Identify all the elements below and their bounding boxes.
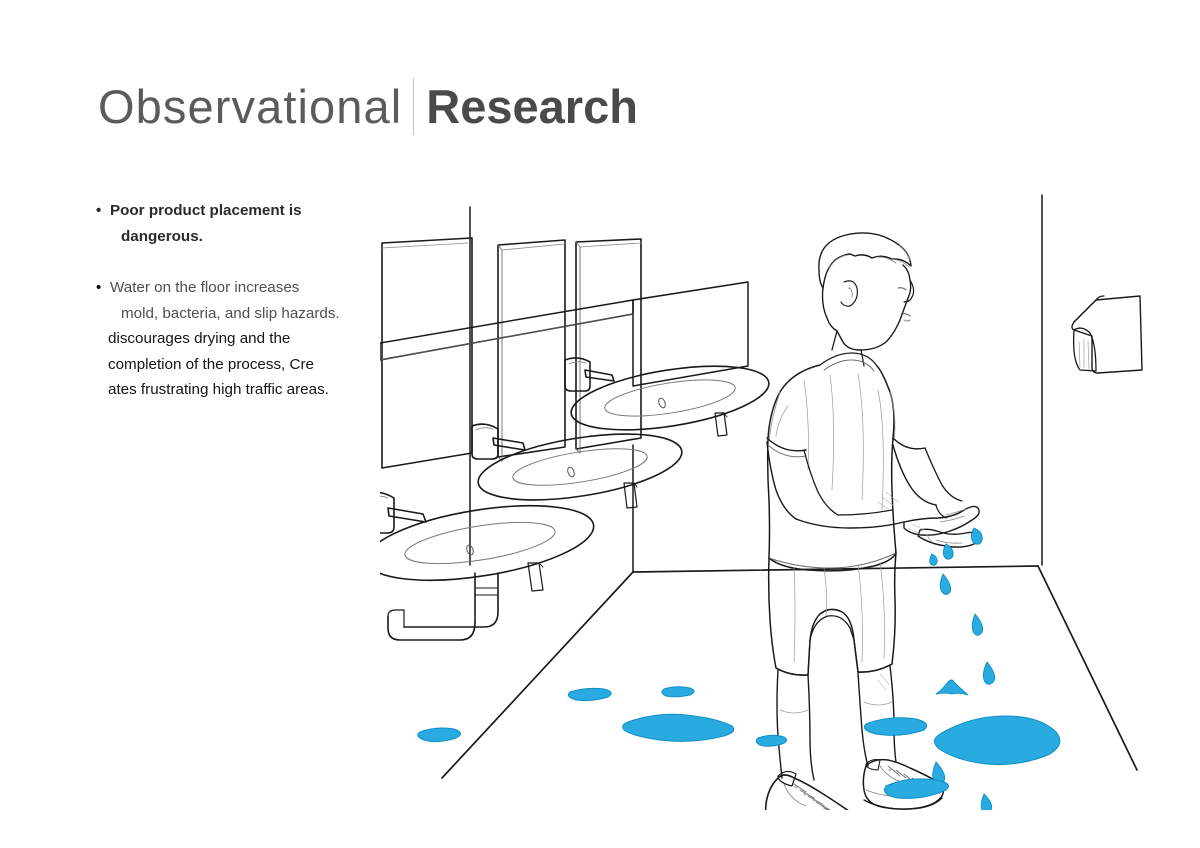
hair — [819, 233, 911, 288]
drain-pipe — [388, 573, 498, 640]
mirror — [576, 239, 641, 453]
title-divider — [413, 78, 414, 135]
list-item: • Poor product placement is dangerous. — [96, 198, 382, 249]
sink — [565, 355, 773, 442]
mirror — [498, 240, 565, 461]
wall-ledge — [380, 282, 748, 386]
bullet-line: Poor product placement is — [110, 198, 382, 224]
bullet-list: • Poor product placement is dangerous. •… — [96, 198, 382, 403]
paper-towel-dispenser — [1072, 296, 1142, 373]
floor-puddles — [418, 687, 1060, 799]
bullet-line: Water on the floor increases — [110, 275, 382, 301]
slide-canvas: Observational Research • Poor product pl… — [0, 0, 1200, 848]
bullet-line: dangerous. — [110, 224, 382, 250]
bullet-line: discourages drying and the — [108, 326, 382, 352]
bullet-marker: • — [96, 198, 101, 224]
t-shirt — [767, 353, 925, 571]
bullet-line: ates frustrating high traffic areas. — [108, 377, 382, 403]
page-title-light: Observational — [98, 83, 402, 130]
water-droplets — [930, 528, 995, 810]
bullet-marker: • — [96, 275, 101, 301]
list-item: • Water on the floor increases mold, bac… — [96, 275, 382, 403]
room-architecture — [442, 195, 1137, 778]
bullet-line: completion of the process, Cre — [108, 352, 382, 378]
page-title: Observational Research — [98, 72, 638, 140]
water-splashes — [936, 680, 968, 695]
mirror — [382, 238, 472, 468]
restroom-illustration — [380, 170, 1170, 810]
bullet-line: mold, bacteria, and slip hazards. — [110, 301, 382, 327]
page-title-bold: Research — [426, 83, 638, 130]
faucet — [380, 492, 426, 533]
arms — [767, 442, 962, 528]
hands — [904, 506, 980, 547]
sink — [472, 422, 686, 512]
sink — [380, 492, 599, 640]
